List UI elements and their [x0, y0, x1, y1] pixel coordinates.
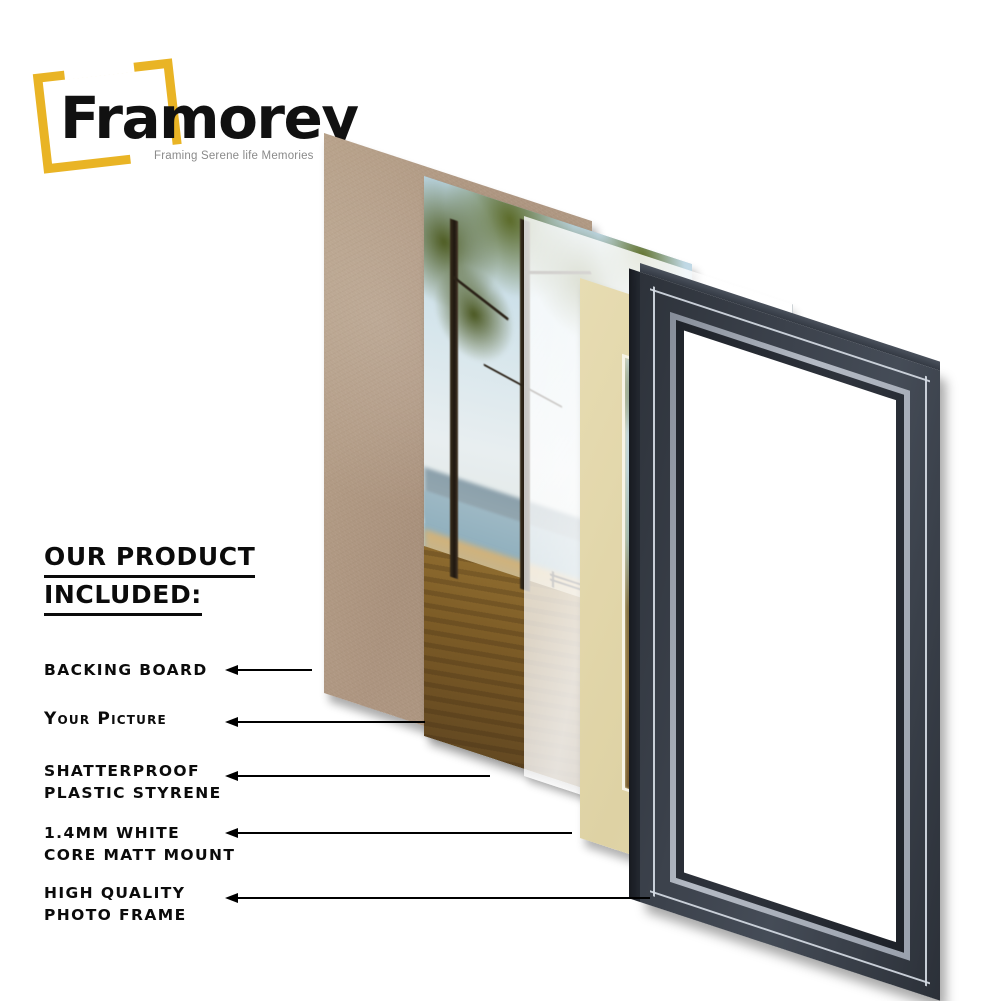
- arrow-shaft: [234, 775, 490, 777]
- frame-pinstripe-right: [925, 376, 927, 987]
- legend-label-backing-board: BACKING BOARD: [44, 661, 208, 680]
- arrow-your-picture: [225, 717, 425, 727]
- arrow-styrene: [225, 771, 490, 781]
- arrow-backing-board: [225, 665, 312, 675]
- frame-outer-moulding: [640, 272, 940, 1001]
- photo-tree-trunk: [450, 218, 458, 579]
- frame-inner-bevel: [670, 312, 910, 961]
- arrow-shaft: [234, 897, 650, 899]
- legend-label-mount-line1: 1.4MM WHITE: [44, 824, 180, 843]
- frame-opening: [684, 330, 896, 942]
- brand-tagline: Framing Serene life Memories: [154, 150, 314, 162]
- brand-logo: Framorey Framing Serene life Memories: [34, 62, 364, 182]
- legend-heading: OUR PRODUCT INCLUDED:: [44, 540, 344, 616]
- arrow-shaft: [234, 669, 312, 671]
- arrow-shaft: [234, 721, 425, 723]
- frame-inner-lip: [676, 320, 904, 953]
- frame-layer: [640, 272, 940, 1001]
- arrow-frame: [225, 893, 650, 903]
- legend-heading-line1: OUR PRODUCT: [44, 540, 255, 578]
- frame-side-face: [629, 268, 640, 902]
- arrow-shaft: [234, 832, 572, 834]
- legend-label-frame-line1: HIGH QUALITY: [44, 884, 185, 903]
- brand-name: Framorey: [60, 84, 358, 152]
- infographic-canvas: Framorey Framing Serene life Memories: [0, 0, 990, 990]
- legend-block: OUR PRODUCT INCLUDED:: [44, 540, 344, 616]
- legend-heading-line2: INCLUDED:: [44, 578, 202, 616]
- frame-pinstripe-left: [653, 286, 655, 897]
- legend-label-mount-line2: CORE MATT MOUNT: [44, 846, 235, 865]
- legend-label-your-picture: Your Picture: [44, 710, 167, 729]
- legend-label-styrene-line1: SHATTERPROOF: [44, 762, 200, 781]
- legend-label-frame-line2: PHOTO FRAME: [44, 906, 187, 925]
- legend-label-styrene-line2: PLASTIC STYRENE: [44, 784, 222, 803]
- arrow-mount: [225, 828, 572, 838]
